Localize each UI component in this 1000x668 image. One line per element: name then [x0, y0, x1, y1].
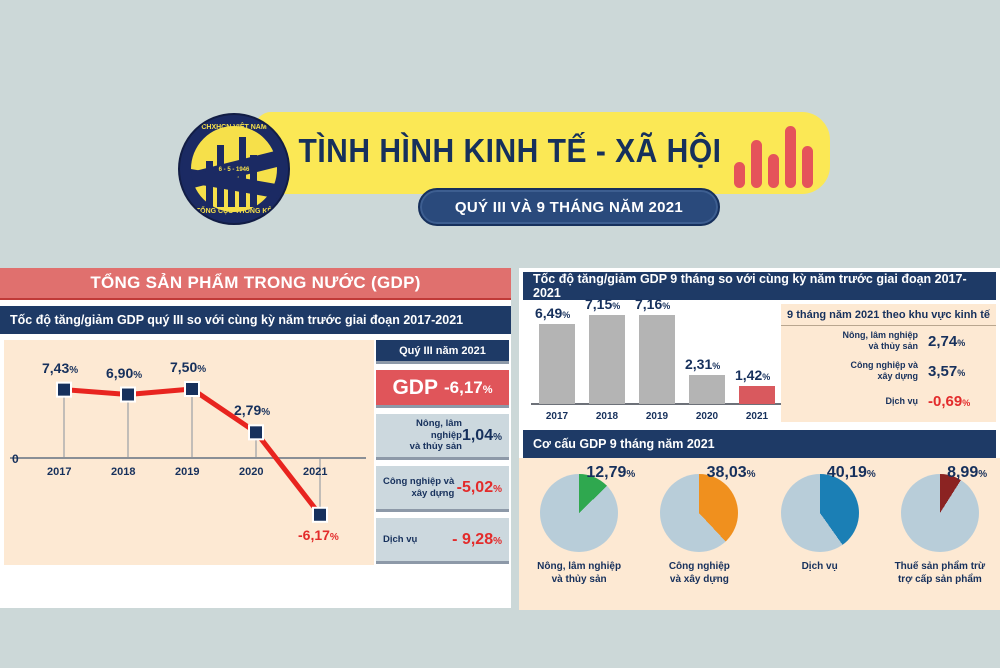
- left-panel-header: TỔNG SẢN PHẨM TRONG NƯỚC (GDP): [0, 268, 511, 300]
- bar-column: [689, 375, 725, 404]
- bar-column: [639, 315, 675, 404]
- bar-chart-icon: [734, 122, 826, 188]
- bar-rect: [639, 315, 675, 404]
- bar-value-label: 1,42%: [735, 367, 770, 383]
- bar-x-tick: 2018: [585, 411, 629, 422]
- bar-x-tick: 2017: [535, 411, 579, 422]
- line-x-tick: 2020: [239, 466, 263, 478]
- logo-top-text: CHXHCN VIỆT NAM: [180, 124, 288, 131]
- line-point-label: 7,43%: [42, 360, 78, 376]
- q3-row-services-value: - 9,28%: [452, 531, 502, 549]
- line-x-tick: 2021: [303, 466, 327, 478]
- pie-value-label: 12,79%: [586, 464, 635, 482]
- bar-column: [539, 324, 575, 404]
- left-panel-body: 0 7,43%20176,90%20187,50%20192,79%2020-6…: [0, 336, 511, 608]
- pie-chart: [901, 474, 979, 552]
- bar-x-tick: 2021: [735, 411, 779, 422]
- data-point-marker: [185, 382, 199, 396]
- bar-x-tick: 2020: [685, 411, 729, 422]
- gso-logo: CHXHCN VIỆT NAM 6 - 5 - 1946 TỔNG CỤC TH…: [178, 113, 290, 225]
- q3-stats-title: Quý III năm 2021: [376, 340, 509, 364]
- left-panel: TỔNG SẢN PHẨM TRONG NƯỚC (GDP) Tốc độ tă…: [0, 268, 511, 608]
- logo-date-text: 6 - 5 - 1946: [180, 167, 288, 173]
- line-x-tick: 2019: [175, 466, 199, 478]
- q3-row-industry-label: Công nghiệp vàxây dựng: [383, 476, 454, 500]
- sector-row-services-label: Dịch vụ: [885, 396, 918, 407]
- pie-chart: [660, 474, 738, 552]
- right-panel: Tốc độ tăng/giảm GDP 9 tháng so với cùng…: [519, 268, 1000, 608]
- line-point-label: 6,90%: [106, 365, 142, 381]
- pie-cell: 8,99%Thuế sản phẩm trừtrợ cấp sản phẩm: [880, 458, 1000, 610]
- line-point-label: -6,17%: [298, 527, 339, 543]
- pie-category-label: Công nghiệpvà xây dựng: [669, 560, 730, 586]
- pie-cell: 38,03%Công nghiệpvà xây dựng: [639, 458, 759, 610]
- sector-row-services-value: -0,69%: [928, 393, 986, 410]
- q3-row-services-label: Dịch vụ: [383, 534, 417, 546]
- sector-summary-box: 9 tháng năm 2021 theo khu vực kinh tế Nô…: [781, 304, 996, 422]
- pie-cell: 40,19%Dịch vụ: [760, 458, 880, 610]
- sector-row-industry-label: Công nghiệp vàxây dựng: [851, 360, 919, 382]
- q3-stats-list: Quý III năm 2021 GDP -6,17% Nông, lâm ng…: [376, 340, 509, 608]
- q3-row-agriculture-value: 1,04%: [462, 427, 502, 445]
- q3-gdp-label: GDP: [392, 376, 438, 400]
- sector-summary-title: 9 tháng năm 2021 theo khu vực kinh tế: [781, 304, 996, 326]
- pie-category-label: Nông, lâm nghiệpvà thủy sản: [537, 560, 621, 586]
- data-point-marker: [313, 508, 327, 522]
- bar-value-label: 6,49%: [535, 305, 570, 321]
- pie-value-label: 8,99%: [947, 464, 987, 482]
- q3-gdp-value: -6,17%: [444, 378, 493, 398]
- q3-row-industry-value: -5,02%: [457, 479, 502, 497]
- data-point-marker: [121, 388, 135, 402]
- sector-row-industry-value: 3,57%: [928, 363, 986, 380]
- data-point-marker: [249, 425, 263, 439]
- data-point-marker: [57, 383, 71, 397]
- bar-icon-bar: [785, 126, 796, 188]
- header-banner: TÌNH HÌNH KINH TẾ - XÃ HỘI CHXHCN VIỆT N…: [0, 108, 1000, 236]
- page-subtitle: QUÝ III VÀ 9 THÁNG NĂM 2021: [418, 188, 720, 226]
- bar-rect: [689, 375, 725, 404]
- pie-category-label: Thuế sản phẩm trừtrợ cấp sản phẩm: [895, 560, 986, 586]
- logo-bottom-text: TỔNG CỤC THỐNG KÊ: [180, 208, 288, 215]
- line-point-label: 7,50%: [170, 359, 206, 375]
- page-title: TÌNH HÌNH KINH TẾ - XÃ HỘI: [300, 123, 720, 181]
- bar-x-tick: 2019: [635, 411, 679, 422]
- pies-header: Cơ cấu GDP 9 tháng năm 2021: [523, 430, 996, 458]
- sector-row-industry: Công nghiệp vàxây dựng 3,57%: [781, 356, 996, 386]
- line-point-label: 2,79%: [234, 402, 270, 418]
- line-x-tick: 2017: [47, 466, 71, 478]
- gdp-structure-pie-charts: 12,79%Nông, lâm nghiệpvà thủy sản38,03%C…: [519, 458, 1000, 610]
- q3-row-industry: Công nghiệp vàxây dựng -5,02%: [376, 466, 509, 512]
- bar-rect: [739, 386, 775, 404]
- sector-row-services: Dịch vụ -0,69%: [781, 386, 996, 416]
- sector-row-agriculture-label: Nông, lâm nghiệpvà thủy sản: [843, 330, 919, 352]
- bar-icon-bar: [768, 154, 779, 188]
- gdp-q3-line-chart: 0 7,43%20176,90%20187,50%20192,79%2020-6…: [4, 340, 374, 565]
- pie-category-label: Dịch vụ: [802, 560, 838, 573]
- line-x-tick: 2018: [111, 466, 135, 478]
- q3-row-services: Dịch vụ - 9,28%: [376, 518, 509, 564]
- pie-cell: 12,79%Nông, lâm nghiệpvà thủy sản: [519, 458, 639, 610]
- bar-column: [589, 315, 625, 404]
- pie-chart: [540, 474, 618, 552]
- bar-rect: [589, 315, 625, 404]
- bar-value-label: 7,15%: [585, 296, 620, 312]
- bar-icon-bar: [751, 140, 762, 188]
- bar-column: [739, 386, 775, 404]
- q3-row-agriculture-label: Nông, lâm nghiệpvà thủy sản: [383, 418, 462, 454]
- bar-chart-plot: 6,49%20177,15%20187,16%20192,31%20201,42…: [527, 304, 789, 426]
- axis-zero-label: 0: [12, 452, 19, 466]
- q3-gdp-row: GDP -6,17%: [376, 370, 509, 408]
- bar-value-label: 2,31%: [685, 356, 720, 372]
- bar-icon-bar: [802, 146, 813, 188]
- bar-icon-bar: [734, 162, 745, 188]
- pie-value-label: 40,19%: [827, 464, 876, 482]
- left-chart-subheader: Tốc độ tăng/giảm GDP quý III so với cùng…: [0, 306, 511, 334]
- pie-chart: [781, 474, 859, 552]
- gdp-9months-bar-chart: 6,49%20177,15%20187,16%20192,31%20201,42…: [519, 300, 1000, 428]
- q3-row-agriculture: Nông, lâm nghiệpvà thủy sản 1,04%: [376, 414, 509, 460]
- sector-row-agriculture-value: 2,74%: [928, 333, 986, 350]
- bar-rect: [539, 324, 575, 404]
- pie-value-label: 38,03%: [707, 464, 756, 482]
- sector-row-agriculture: Nông, lâm nghiệpvà thủy sản 2,74%: [781, 326, 996, 356]
- bar-value-label: 7,16%: [635, 296, 670, 312]
